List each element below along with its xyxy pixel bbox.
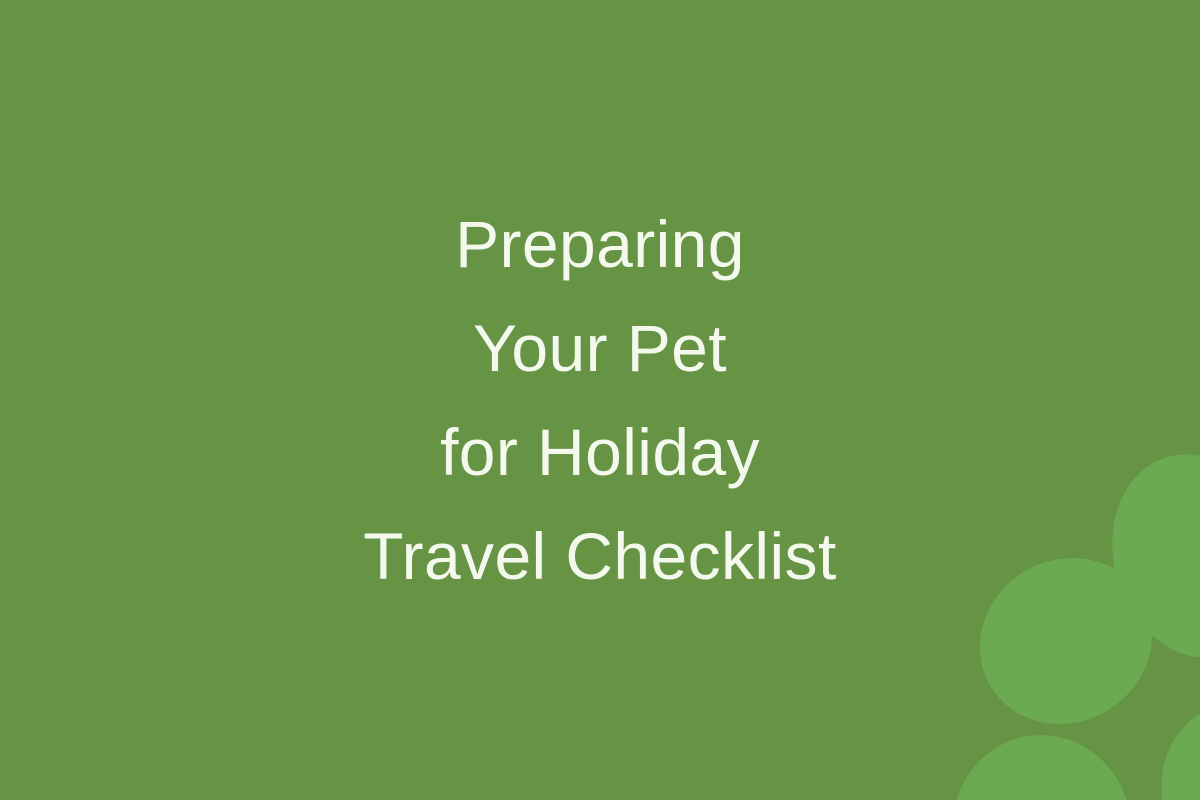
title-line-4: Travel Checklist: [0, 504, 1200, 608]
page-title: Preparing Your Pet for Holiday Travel Ch…: [0, 0, 1200, 800]
title-card: Preparing Your Pet for Holiday Travel Ch…: [0, 0, 1200, 800]
title-line-3: for Holiday: [0, 400, 1200, 504]
title-line-2: Your Pet: [0, 296, 1200, 400]
title-line-1: Preparing: [0, 192, 1200, 296]
